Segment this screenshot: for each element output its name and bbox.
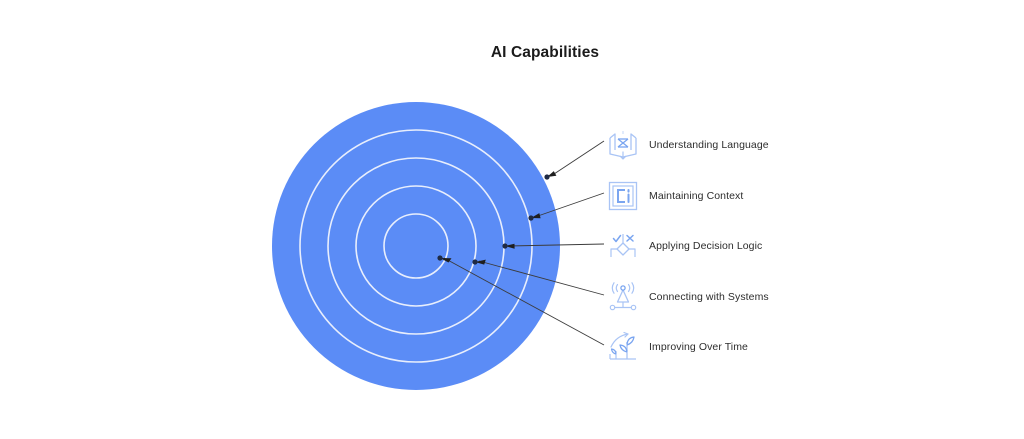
diagram-canvas: AI Capabilities [0,0,1024,439]
connector-line-1 [551,141,604,176]
legend-item-applying-decision-logic[interactable]: Applying Decision Logic [606,226,762,266]
legend: Understanding Language Maintaining Conte… [606,0,1006,439]
anchor-dot-3 [502,243,507,248]
context-frame-icon [606,179,640,213]
antenna-network-icon [606,280,640,314]
legend-item-maintaining-context[interactable]: Maintaining Context [606,176,743,216]
anchor-dot-4 [472,259,477,264]
legend-label: Understanding Language [649,139,769,151]
anchor-dot-2 [528,215,533,220]
anchor-dot-1 [544,174,549,179]
legend-item-improving-over-time[interactable]: Improving Over Time [606,327,748,367]
legend-item-understanding-language[interactable]: Understanding Language [606,125,769,165]
legend-label: Improving Over Time [649,341,748,353]
legend-label: Connecting with Systems [649,291,769,303]
plant-growth-icon [606,330,640,364]
legend-label: Maintaining Context [649,190,743,202]
decision-diamond-icon [606,229,640,263]
book-translate-icon [606,128,640,162]
anchor-dot-5 [437,255,442,260]
legend-item-connecting-with-systems[interactable]: Connecting with Systems [606,277,769,317]
legend-label: Applying Decision Logic [649,240,762,252]
